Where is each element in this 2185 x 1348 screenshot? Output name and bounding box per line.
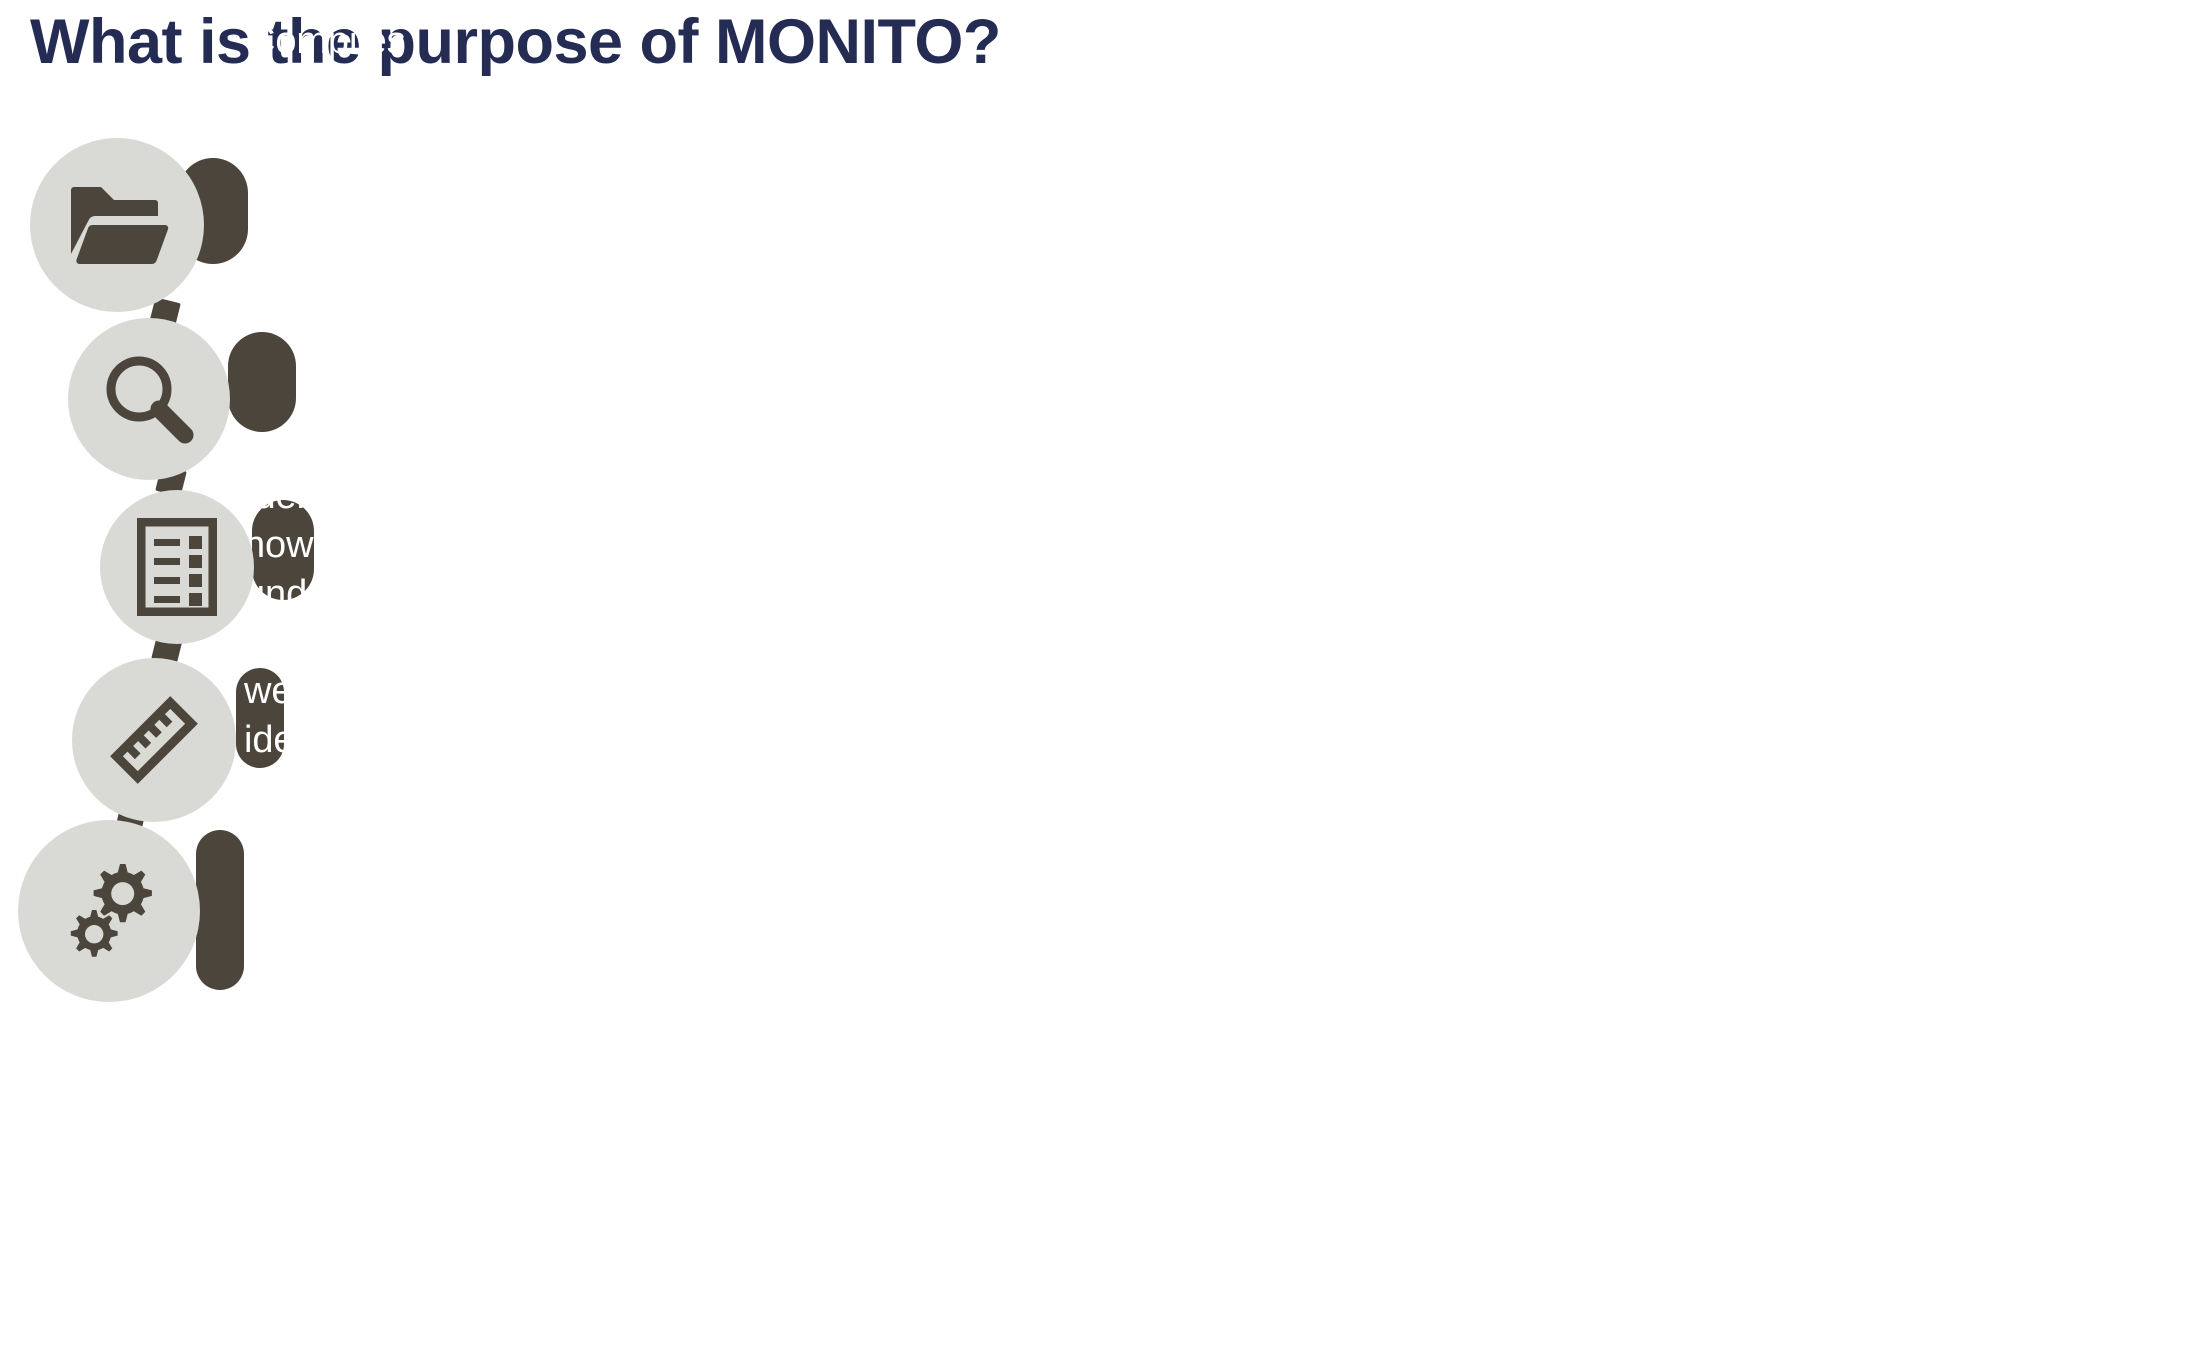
icon-circle[interactable]	[18, 820, 200, 1002]
gears-icon	[54, 856, 164, 966]
magnifying-glass-icon	[101, 351, 197, 447]
icon-circle[interactable]	[100, 490, 254, 644]
icon-circle[interactable]	[68, 318, 230, 480]
statement-text: Identifies how many underlying causes we…	[244, 472, 421, 1347]
ruler-icon	[102, 688, 206, 792]
statement-bar: Identifies how many underlying causes we…	[196, 830, 244, 990]
page-title: What is the purpose of MONITO?	[30, 6, 1001, 78]
icon-circle[interactable]	[30, 138, 204, 312]
icon-circle[interactable]	[72, 658, 236, 822]
open-folder-icon	[65, 181, 169, 269]
statement-bar: Tracks the status of implementation of e…	[228, 332, 296, 432]
slide-canvas: What is the purpose of MONITO? Compiles …	[0, 0, 2185, 1004]
checklist-document-icon	[137, 518, 217, 616]
